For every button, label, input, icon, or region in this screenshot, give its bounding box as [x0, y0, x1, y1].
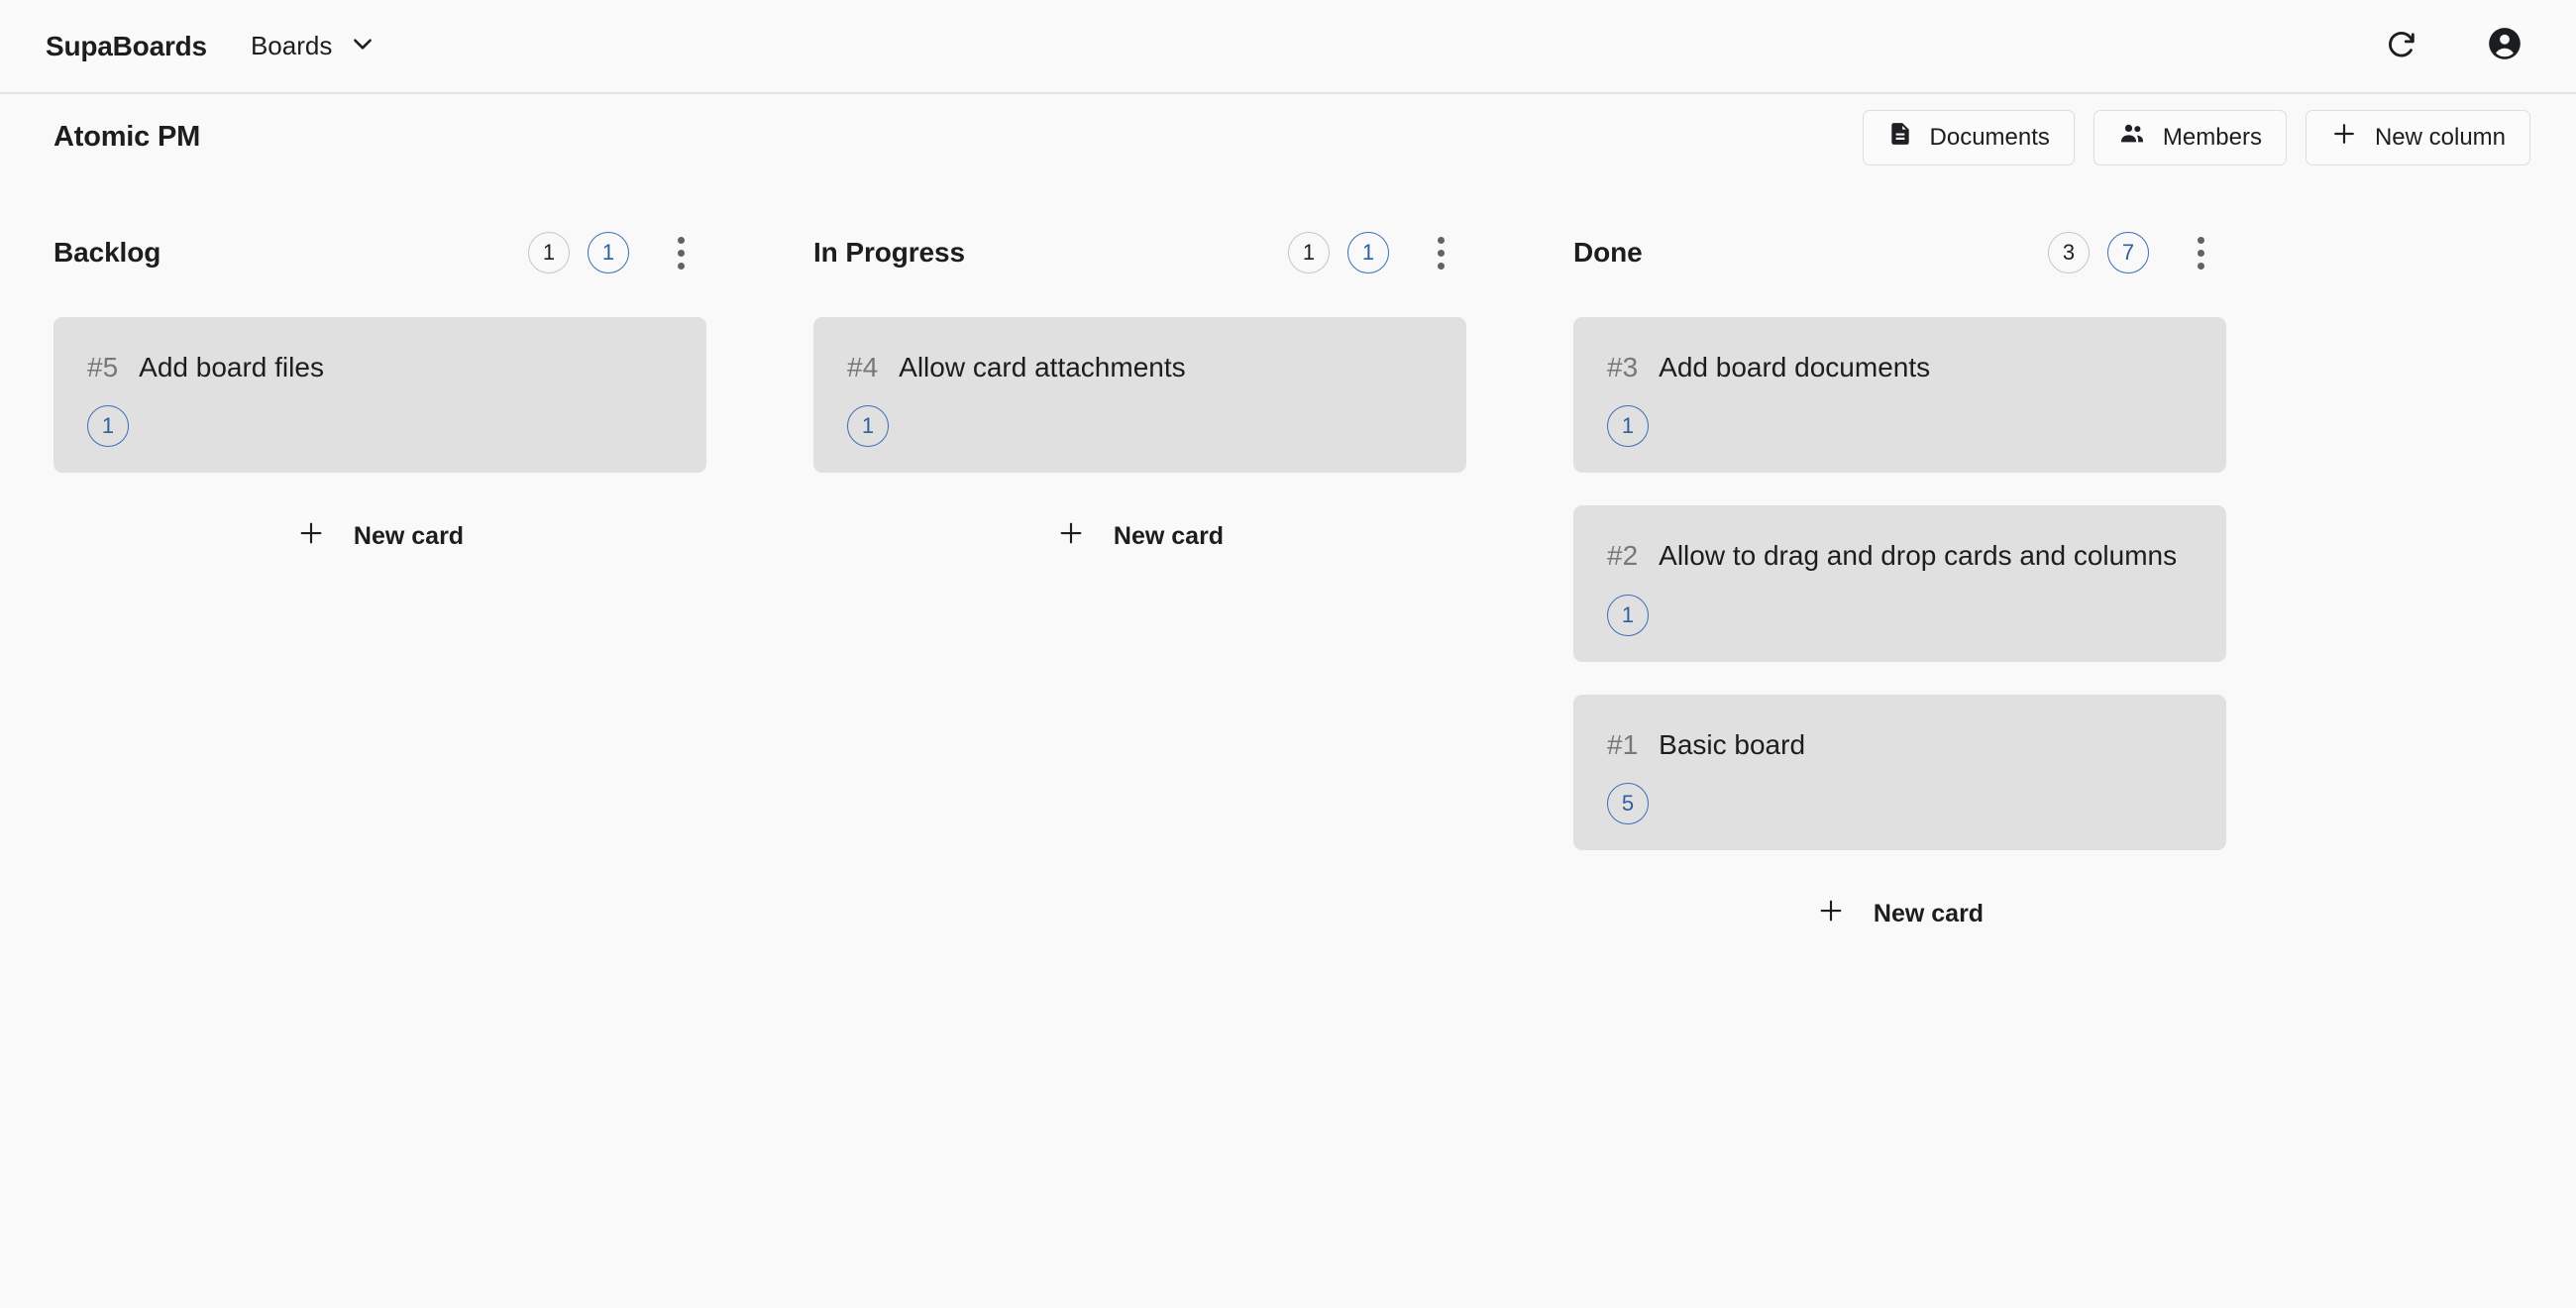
people-icon	[2118, 120, 2146, 155]
board-column: In Progress11#4Allow card attachments1Ne…	[760, 226, 1520, 567]
new-column-button[interactable]: New column	[2306, 110, 2530, 165]
card-number: #1	[1607, 724, 1638, 765]
board-column: Backlog11#5Add board files1New card	[0, 226, 760, 567]
new-card-label: New card	[1114, 522, 1224, 551]
column-card-list: #4Allow card attachments1	[813, 317, 1466, 473]
column-points-badge: 7	[2107, 232, 2149, 273]
card-points-badge[interactable]: 5	[1607, 783, 1649, 824]
card-number: #2	[1607, 535, 1638, 576]
board-title: Atomic PM	[54, 121, 200, 154]
app-brand-logo[interactable]: SupaBoards	[46, 31, 207, 62]
card-title-row: #2Allow to drag and drop cards and colum…	[1607, 535, 2193, 576]
card-number: #3	[1607, 347, 1638, 387]
card-title-row: #4Allow card attachments	[847, 347, 1433, 387]
column-card-list: #3Add board documents1#2Allow to drag an…	[1573, 317, 2226, 850]
column-card-list: #5Add board files1	[54, 317, 706, 473]
board-header: Atomic PM Documents Members New column	[0, 94, 2576, 180]
refresh-icon	[2385, 27, 2418, 65]
board-card[interactable]: #3Add board documents1	[1573, 317, 2226, 473]
card-title: Add board files	[139, 347, 324, 387]
new-card-button[interactable]: New card	[54, 505, 706, 567]
board-card[interactable]: #1Basic board5	[1573, 695, 2226, 850]
column-card-count-badge: 1	[1288, 232, 1330, 273]
column-points-badge: 1	[1347, 232, 1389, 273]
column-card-count-badge: 1	[528, 232, 570, 273]
members-button[interactable]: Members	[2093, 110, 2287, 165]
plus-icon	[1056, 518, 1086, 555]
column-title: In Progress	[813, 237, 965, 269]
column-header: Backlog11	[54, 226, 706, 279]
card-points-badge[interactable]: 1	[87, 405, 129, 447]
members-button-label: Members	[2163, 124, 2262, 152]
kebab-menu-icon[interactable]	[655, 227, 706, 278]
card-title-row: #3Add board documents	[1607, 347, 2193, 387]
plus-icon	[1816, 896, 1846, 932]
card-number: #5	[87, 347, 118, 387]
kebab-menu-icon[interactable]	[2175, 227, 2226, 278]
board-card[interactable]: #5Add board files1	[54, 317, 706, 473]
card-title-row: #1Basic board	[1607, 724, 2193, 765]
card-points-badge[interactable]: 1	[847, 405, 889, 447]
card-points-badge[interactable]: 1	[1607, 405, 1649, 447]
chevron-down-icon	[350, 31, 376, 61]
card-title: Allow card attachments	[899, 347, 1185, 387]
new-card-button[interactable]: New card	[1573, 883, 2226, 944]
kebab-menu-icon[interactable]	[1415, 227, 1466, 278]
card-title-row: #5Add board files	[87, 347, 673, 387]
document-icon	[1887, 121, 1913, 154]
column-card-count-badge: 3	[2048, 232, 2090, 273]
column-header: In Progress11	[813, 226, 1466, 279]
nav-boards-dropdown[interactable]: Boards	[251, 31, 376, 61]
top-navigation-bar: SupaBoards Boards	[0, 0, 2576, 94]
new-card-button[interactable]: New card	[813, 505, 1466, 567]
column-title: Done	[1573, 237, 1643, 269]
new-card-label: New card	[1874, 900, 1984, 928]
nav-boards-label: Boards	[251, 31, 332, 61]
plus-icon	[2330, 120, 2358, 155]
board-column: Done37#3Add board documents1#2Allow to d…	[1520, 226, 2280, 944]
new-column-button-label: New column	[2375, 124, 2506, 152]
plus-icon	[296, 518, 326, 555]
card-title: Basic board	[1659, 724, 1805, 765]
new-card-label: New card	[354, 522, 464, 551]
refresh-button[interactable]	[2376, 21, 2427, 72]
card-number: #4	[847, 347, 878, 387]
account-circle-icon	[2486, 25, 2523, 67]
column-points-badge: 1	[588, 232, 629, 273]
column-title: Backlog	[54, 237, 161, 269]
board-card[interactable]: #2Allow to drag and drop cards and colum…	[1573, 505, 2226, 661]
card-points-badge[interactable]: 1	[1607, 595, 1649, 636]
card-title: Add board documents	[1659, 347, 1930, 387]
column-header: Done37	[1573, 226, 2226, 279]
account-button[interactable]	[2479, 21, 2530, 72]
card-title: Allow to drag and drop cards and columns	[1659, 535, 2177, 576]
documents-button[interactable]: Documents	[1863, 110, 2075, 165]
board-card[interactable]: #4Allow card attachments1	[813, 317, 1466, 473]
documents-button-label: Documents	[1930, 124, 2050, 152]
kanban-board: Backlog11#5Add board files1New cardIn Pr…	[0, 180, 2576, 944]
